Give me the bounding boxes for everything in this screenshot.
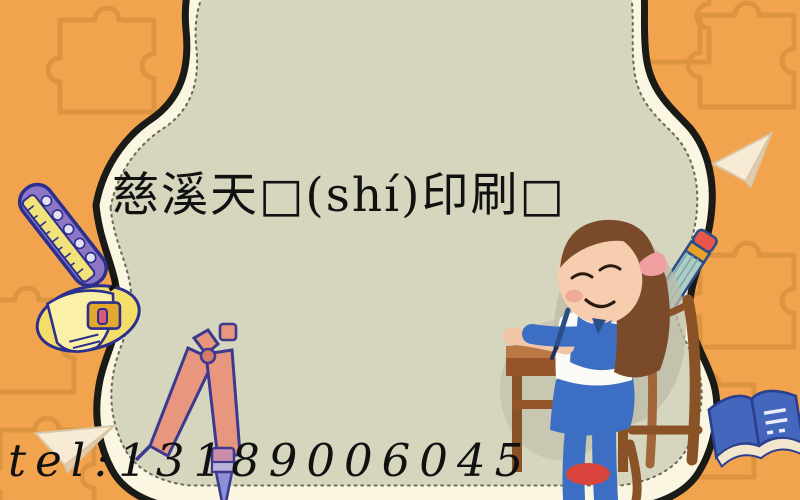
- ruler-icon: [13, 178, 112, 292]
- pencil-sharpener-icon: [30, 276, 146, 361]
- poster-canvas: 慈溪天□(shí)印刷□ , tel:13189006045: [0, 0, 800, 500]
- student-illustration: [500, 220, 698, 500]
- compass-icon: [136, 324, 240, 500]
- decoration-layer: [0, 0, 800, 500]
- paper-airplane-icon: [28, 408, 113, 480]
- paper-airplane-icon: [710, 133, 778, 191]
- open-book-icon: [707, 387, 800, 467]
